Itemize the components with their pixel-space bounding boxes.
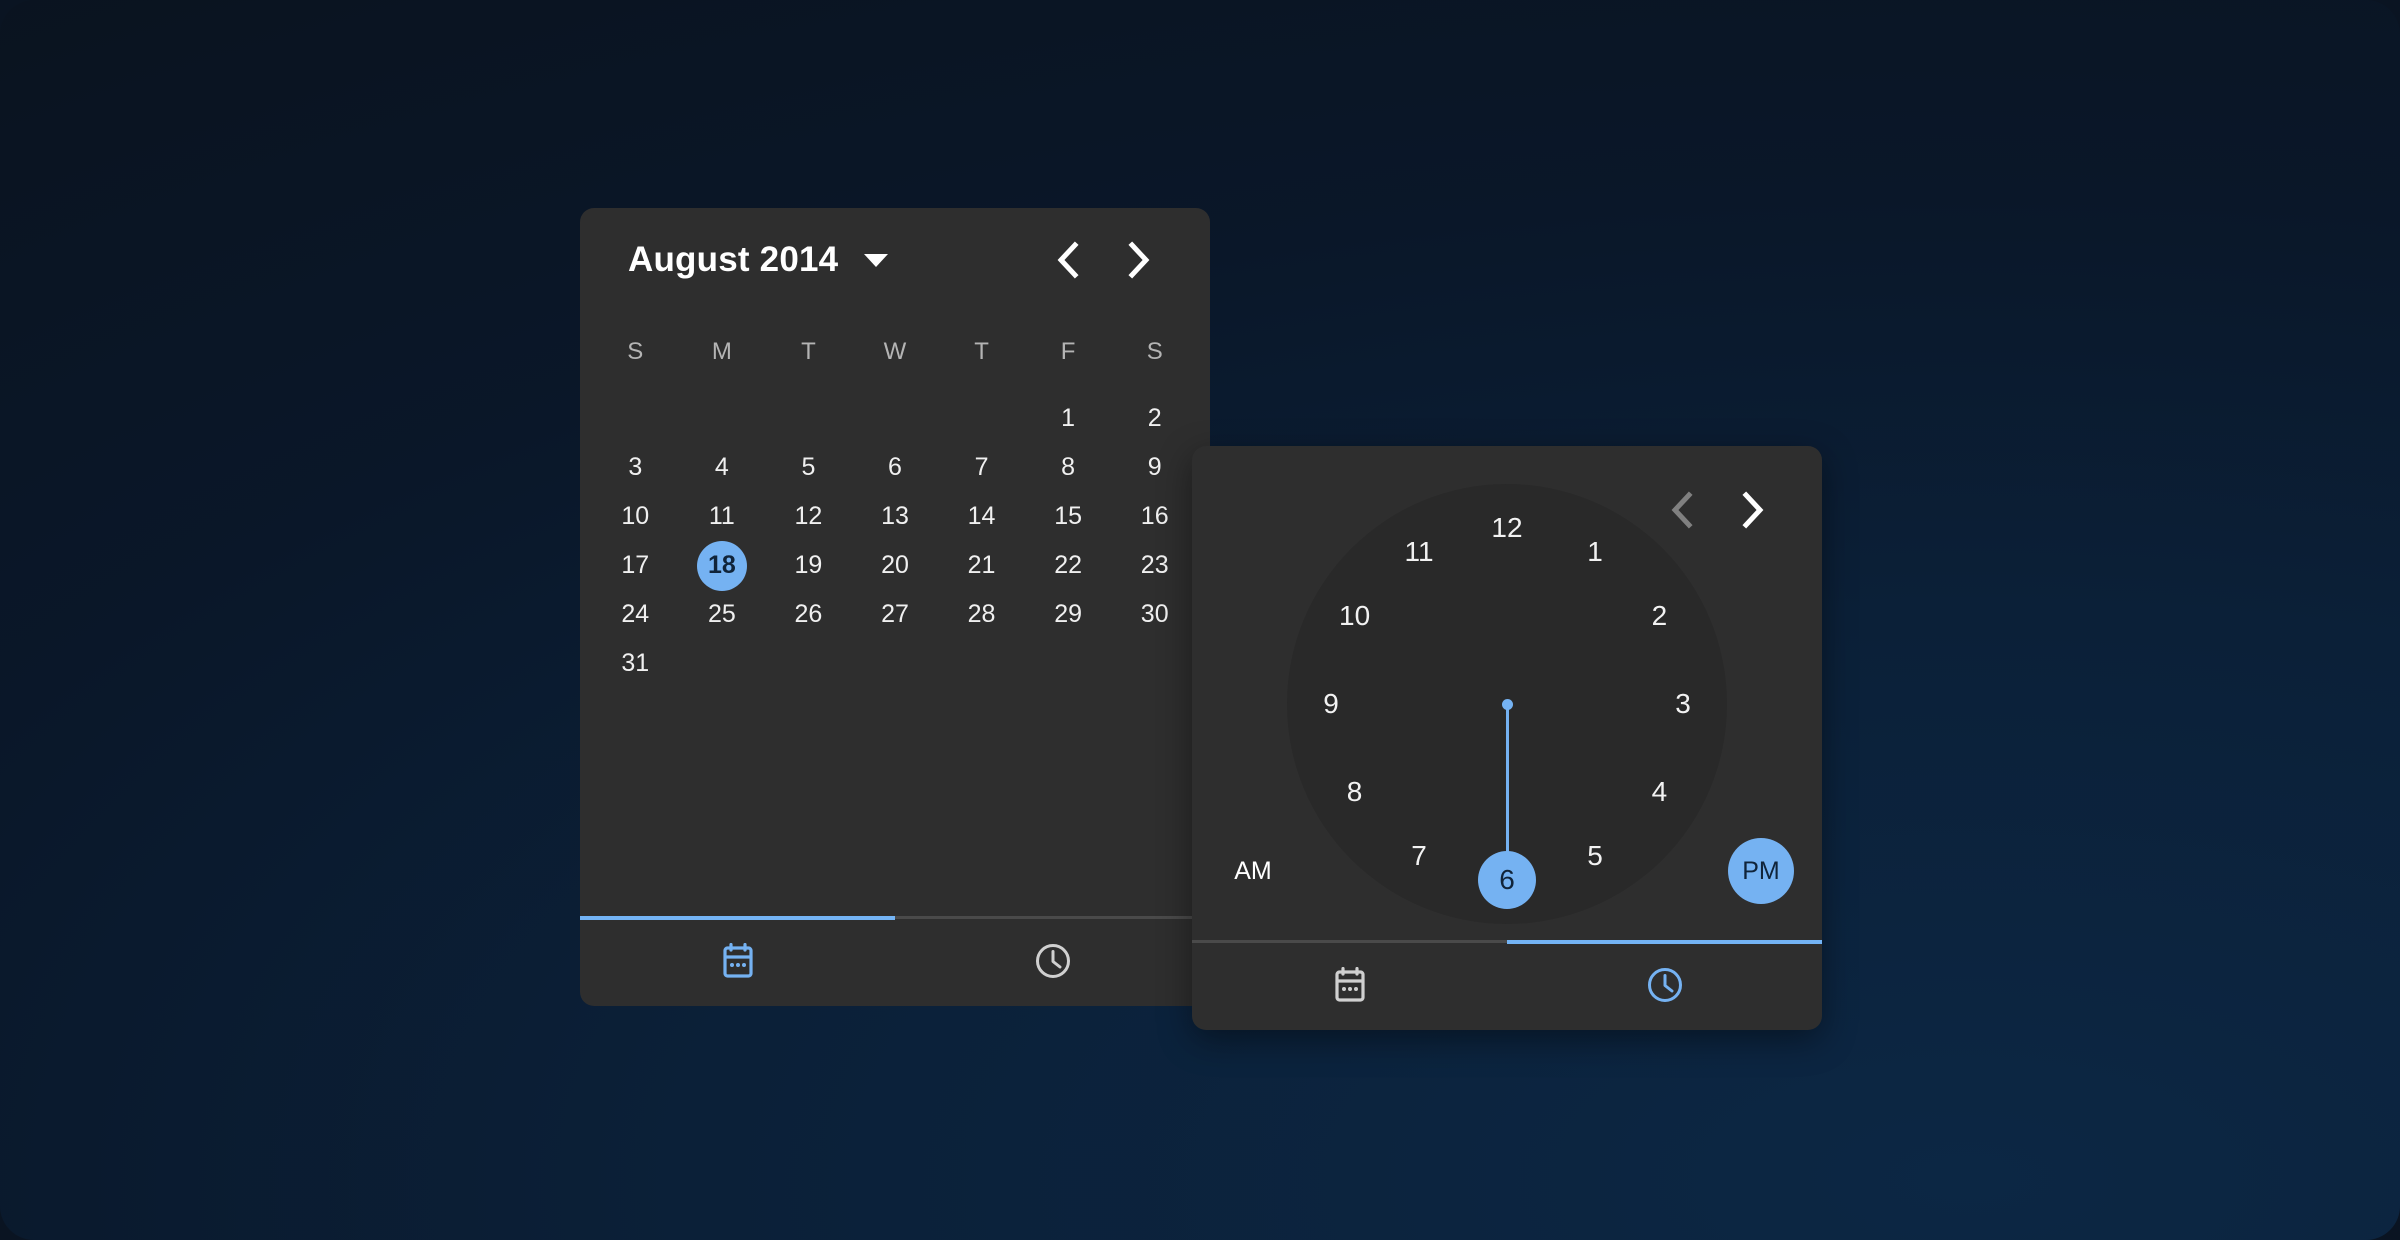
day-number: 14 xyxy=(957,492,1007,542)
day-number: 7 xyxy=(957,443,1007,493)
month-year-label[interactable]: August 2014 xyxy=(628,240,838,280)
weekday-label-6: S xyxy=(1111,338,1198,366)
day-cell[interactable]: 1 xyxy=(1025,394,1112,443)
day-cell[interactable]: 17 xyxy=(592,541,679,590)
clock-center-dot xyxy=(1502,699,1513,710)
time-picker-panel: 121234567891011 AM PM xyxy=(1192,446,1822,1030)
app-background: August 2014 SMTWTFS 12345678910111213141… xyxy=(0,0,2400,1240)
day-number: 5 xyxy=(783,443,833,493)
day-cell[interactable]: 3 xyxy=(592,443,679,492)
previous-period-button[interactable] xyxy=(1654,482,1710,538)
weekday-label-2: T xyxy=(765,338,852,366)
day-number: 21 xyxy=(957,541,1007,591)
hour-option[interactable]: 2 xyxy=(1630,587,1688,645)
day-number: 24 xyxy=(610,590,660,640)
next-period-button[interactable] xyxy=(1724,482,1780,538)
chevron-left-icon xyxy=(1055,240,1081,280)
day-cell[interactable]: 7 xyxy=(938,443,1025,492)
am-button[interactable]: AM xyxy=(1220,838,1286,904)
day-cell[interactable]: 31 xyxy=(592,639,679,688)
hour-option[interactable]: 10 xyxy=(1326,587,1384,645)
hour-option[interactable]: 12 xyxy=(1478,499,1536,557)
previous-month-button[interactable] xyxy=(1040,232,1096,288)
day-cell-selected[interactable]: 18 xyxy=(679,541,766,590)
day-number: 15 xyxy=(1043,492,1093,542)
hour-option[interactable]: 4 xyxy=(1630,763,1688,821)
hour-option[interactable]: 8 xyxy=(1326,763,1384,821)
day-number: 20 xyxy=(870,541,920,591)
day-cell[interactable]: 28 xyxy=(938,590,1025,639)
day-number: 30 xyxy=(1130,590,1180,640)
day-cell[interactable]: 27 xyxy=(852,590,939,639)
day-number: 8 xyxy=(1043,443,1093,493)
time-picker-body: 121234567891011 AM PM xyxy=(1192,446,1822,940)
day-cell[interactable]: 19 xyxy=(765,541,852,590)
tab-time[interactable] xyxy=(1507,940,1822,1030)
day-cell[interactable]: 21 xyxy=(938,541,1025,590)
day-cell-blank xyxy=(852,394,939,443)
hour-option[interactable]: 11 xyxy=(1390,523,1448,581)
tab-date[interactable] xyxy=(1192,940,1507,1030)
day-cell[interactable]: 20 xyxy=(852,541,939,590)
clock-icon xyxy=(1034,942,1072,980)
day-cell[interactable]: 13 xyxy=(852,492,939,541)
date-picker-body: August 2014 SMTWTFS 12345678910111213141… xyxy=(580,208,1210,916)
day-cell[interactable]: 26 xyxy=(765,590,852,639)
hour-option-selected[interactable]: 6 xyxy=(1478,851,1536,909)
day-number: 25 xyxy=(697,590,747,640)
hour-option[interactable]: 3 xyxy=(1654,675,1712,733)
day-number: 10 xyxy=(610,492,660,542)
time-picker-tabbar xyxy=(1192,940,1822,1030)
day-number: 19 xyxy=(783,541,833,591)
day-cell[interactable]: 2 xyxy=(1111,394,1198,443)
date-picker-tabbar xyxy=(580,916,1210,1006)
day-cell[interactable]: 29 xyxy=(1025,590,1112,639)
day-cell-blank xyxy=(765,394,852,443)
day-number: 9 xyxy=(1130,443,1180,493)
day-cell[interactable]: 9 xyxy=(1111,443,1198,492)
hour-option[interactable]: 1 xyxy=(1566,523,1624,581)
day-number: 23 xyxy=(1130,541,1180,591)
day-number: 28 xyxy=(957,590,1007,640)
hour-option[interactable]: 5 xyxy=(1566,827,1624,885)
day-number: 31 xyxy=(610,639,660,689)
hour-option[interactable]: 9 xyxy=(1302,675,1360,733)
day-number: 27 xyxy=(870,590,920,640)
day-cell[interactable]: 4 xyxy=(679,443,766,492)
day-cell[interactable]: 5 xyxy=(765,443,852,492)
day-cell[interactable]: 22 xyxy=(1025,541,1112,590)
date-picker-panel: August 2014 SMTWTFS 12345678910111213141… xyxy=(580,208,1210,1006)
day-cell[interactable]: 23 xyxy=(1111,541,1198,590)
day-cell[interactable]: 14 xyxy=(938,492,1025,541)
hour-option[interactable]: 7 xyxy=(1390,827,1448,885)
day-cell[interactable]: 12 xyxy=(765,492,852,541)
chevron-right-icon xyxy=(1739,490,1765,530)
day-number: 12 xyxy=(783,492,833,542)
pm-button[interactable]: PM xyxy=(1728,838,1794,904)
day-number: 17 xyxy=(610,541,660,591)
day-number: 3 xyxy=(610,443,660,493)
day-cell[interactable]: 11 xyxy=(679,492,766,541)
day-number: 2 xyxy=(1130,394,1180,444)
day-cell[interactable]: 8 xyxy=(1025,443,1112,492)
weekday-label-4: T xyxy=(938,338,1025,366)
clock-header-nav xyxy=(1654,482,1780,538)
day-cell-blank xyxy=(679,394,766,443)
day-number: 18 xyxy=(697,541,747,591)
day-number: 11 xyxy=(697,492,747,542)
day-cell[interactable]: 25 xyxy=(679,590,766,639)
day-cell[interactable]: 10 xyxy=(592,492,679,541)
day-number: 22 xyxy=(1043,541,1093,591)
caret-down-icon[interactable] xyxy=(864,254,888,267)
calendar-header: August 2014 xyxy=(580,208,1210,312)
calendar-icon xyxy=(1333,967,1367,1003)
weekday-label-3: W xyxy=(852,338,939,366)
day-grid: 1234567891011121314151617181920212223242… xyxy=(580,394,1210,688)
day-number: 4 xyxy=(697,443,747,493)
day-cell[interactable]: 16 xyxy=(1111,492,1198,541)
day-number: 16 xyxy=(1130,492,1180,542)
day-number: 26 xyxy=(783,590,833,640)
day-number: 29 xyxy=(1043,590,1093,640)
day-number: 6 xyxy=(870,443,920,493)
day-cell-blank xyxy=(938,394,1025,443)
tabbar-active-indicator xyxy=(1507,940,1822,944)
day-cell[interactable]: 6 xyxy=(852,443,939,492)
chevron-left-icon xyxy=(1669,490,1695,530)
day-number: 13 xyxy=(870,492,920,542)
tab-date[interactable] xyxy=(580,916,895,1006)
tab-time[interactable] xyxy=(895,916,1210,1006)
clock-area: 121234567891011 AM PM xyxy=(1192,446,1822,940)
chevron-right-icon xyxy=(1125,240,1151,280)
day-cell[interactable]: 24 xyxy=(592,590,679,639)
clock-icon xyxy=(1646,966,1684,1004)
day-cell[interactable]: 15 xyxy=(1025,492,1112,541)
day-cell-blank xyxy=(592,394,679,443)
weekday-label-0: S xyxy=(592,338,679,366)
weekday-header-row: SMTWTFS xyxy=(580,338,1210,366)
tabbar-active-indicator xyxy=(580,916,895,920)
day-number: 1 xyxy=(1043,394,1093,444)
day-cell[interactable]: 30 xyxy=(1111,590,1198,639)
calendar-icon xyxy=(721,943,755,979)
weekday-label-1: M xyxy=(679,338,766,366)
weekday-label-5: F xyxy=(1025,338,1112,366)
next-month-button[interactable] xyxy=(1110,232,1166,288)
